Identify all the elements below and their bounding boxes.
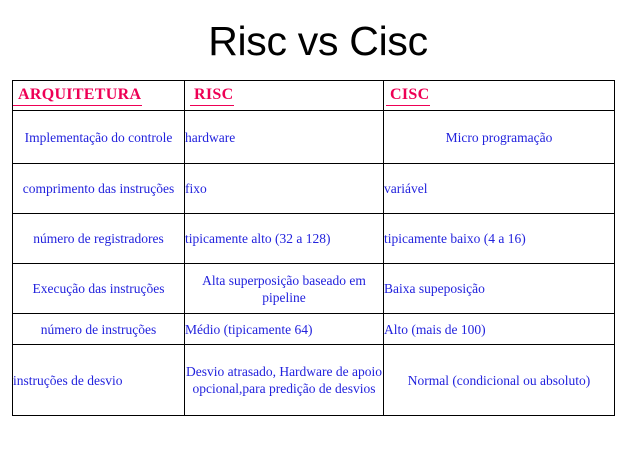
cell-arquitetura: instruções de desvio: [13, 345, 185, 416]
cell-arquitetura: Implementação do controle: [13, 111, 185, 164]
column-header-arquitetura: ARQUITETURA: [13, 81, 185, 111]
cell-cisc: variável: [384, 164, 615, 214]
column-header-arquitetura-label: ARQUITETURA: [13, 86, 142, 106]
column-header-cisc-label: CISC: [386, 86, 430, 106]
cell-risc: hardware: [185, 111, 384, 164]
cell-arquitetura: comprimento das instruções: [13, 164, 185, 214]
cell-risc: Médio (tipicamente 64): [185, 314, 384, 345]
table-body: Implementação do controle hardware Micro…: [13, 111, 615, 416]
table-row: Execução das instruções Alta superposiçã…: [13, 264, 615, 314]
cell-risc: Alta superposição baseado em pipeline: [185, 264, 384, 314]
table-row: comprimento das instruções fixo variável: [13, 164, 615, 214]
cell-cisc: tipicamente baixo (4 a 16): [384, 214, 615, 264]
table-row: Implementação do controle hardware Micro…: [13, 111, 615, 164]
cell-risc: fixo: [185, 164, 384, 214]
page-title: Risc vs Cisc: [0, 17, 636, 65]
column-header-cisc: CISC: [384, 81, 615, 111]
table-row: instruções de desvio Desvio atrasado, Ha…: [13, 345, 615, 416]
cell-cisc: Normal (condicional ou absoluto): [384, 345, 615, 416]
risc-vs-cisc-table: ARQUITETURA RISC CISC Implementação do c…: [12, 80, 615, 416]
column-header-risc: RISC: [185, 81, 384, 111]
comparison-table-container: ARQUITETURA RISC CISC Implementação do c…: [12, 80, 614, 416]
cell-cisc: Baixa supeposição: [384, 264, 615, 314]
cell-cisc: Alto (mais de 100): [384, 314, 615, 345]
column-header-risc-label: RISC: [190, 86, 234, 106]
table-header-row: ARQUITETURA RISC CISC: [13, 81, 615, 111]
table-row: número de registradores tipicamente alto…: [13, 214, 615, 264]
table-row: número de instruções Médio (tipicamente …: [13, 314, 615, 345]
table-header: ARQUITETURA RISC CISC: [13, 81, 615, 111]
cell-risc: Desvio atrasado, Hardware de apoio opcio…: [185, 345, 384, 416]
cell-cisc: Micro programação: [384, 111, 615, 164]
cell-arquitetura: Execução das instruções: [13, 264, 185, 314]
slide-canvas: Risc vs Cisc ARQUITETURA RISC CISC: [0, 0, 636, 457]
cell-arquitetura: número de instruções: [13, 314, 185, 345]
cell-arquitetura: número de registradores: [13, 214, 185, 264]
cell-risc: tipicamente alto (32 a 128): [185, 214, 384, 264]
